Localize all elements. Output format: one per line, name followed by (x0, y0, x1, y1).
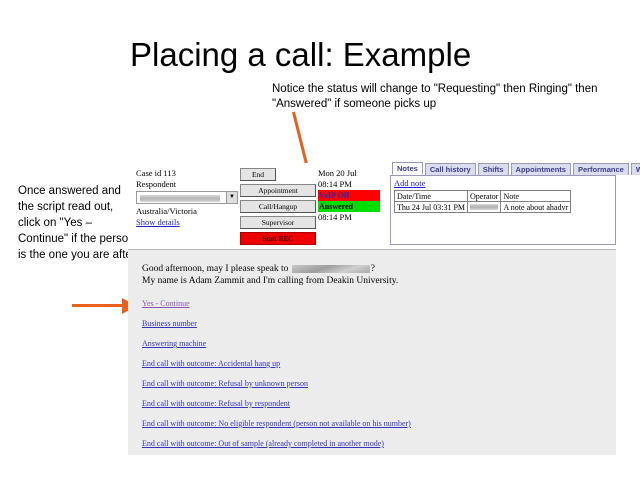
start-rec-button[interactable]: Start REC (240, 232, 316, 245)
cell-datetime: Thu 24 Jul 03:31 PM (395, 202, 468, 213)
call-hangup-button[interactable]: Call/Hangup (240, 200, 316, 213)
timezone-label: Australia/Victoria (136, 206, 246, 217)
tab-call-history[interactable]: Call history (425, 163, 476, 175)
call-status-badge: Answered (318, 201, 380, 212)
script-greeting-prefix: Good afternoon, may I please speak to (142, 264, 291, 274)
chevron-down-icon[interactable]: ▼ (226, 192, 237, 203)
call-controls: End Appointment Call/Hangup Supervisor S… (240, 168, 316, 248)
arrow-to-yes-continue-icon (72, 304, 124, 307)
script-greeting-suffix: ? (371, 264, 375, 274)
cell-operator (468, 202, 501, 213)
add-note-link[interactable]: Add note (394, 178, 425, 188)
voip-status-badge: VoIP Off (318, 190, 380, 201)
status-time-bottom: 08:14 PM (318, 212, 380, 223)
tab-work-history[interactable]: Work history (631, 163, 640, 175)
status-date: Mon 20 Jul (318, 168, 380, 179)
tab-notes[interactable]: Notes (392, 162, 423, 175)
script-region: Good afternoon, may I please speak to ? … (128, 250, 616, 455)
column-datetime: Date/Time (395, 191, 468, 202)
link-out-of-sample[interactable]: End call with outcome: Out of sample (al… (142, 439, 616, 448)
table-row[interactable]: Thu 24 Jul 03:31 PM A note about ahadvr (395, 202, 571, 213)
end-button[interactable]: End (240, 168, 276, 181)
supervisor-button[interactable]: Supervisor (240, 216, 316, 229)
script-line-1: Good afternoon, may I please speak to ? (142, 263, 616, 275)
page-title: Placing a call: Example (130, 36, 471, 74)
respondent-select[interactable]: ▼ (136, 191, 238, 204)
script-line-2: My name is Adam Zammit and I'm calling f… (142, 275, 616, 287)
appointment-button[interactable]: Appointment (240, 184, 316, 197)
show-details-link[interactable]: Show details (136, 217, 180, 228)
tabs-pane: Notes Call history Shifts Appointments P… (390, 163, 616, 249)
column-operator: Operator (468, 191, 501, 202)
callout-status-annotation: Notice the status will change to "Reques… (272, 82, 602, 112)
tab-performance[interactable]: Performance (573, 163, 629, 175)
notes-panel: Add note Date/Time Operator Note Thu 24 … (390, 175, 616, 245)
notes-table: Date/Time Operator Note Thu 24 Jul 03:31… (394, 190, 571, 213)
status-panel: Mon 20 Jul 08:14 PM VoIP Off Answered 08… (318, 168, 380, 223)
app-screenshot: Case id 113 Respondent ▼ Australia/Victo… (128, 163, 616, 455)
column-note: Note (501, 191, 571, 202)
operator-redacted-value (470, 204, 498, 210)
respondent-name-redacted (292, 265, 370, 273)
link-business-number[interactable]: Business number (142, 319, 616, 328)
link-accidental-hang-up[interactable]: End call with outcome: Accidental hang u… (142, 359, 616, 368)
case-info-panel: Case id 113 Respondent ▼ Australia/Victo… (136, 168, 246, 228)
cell-note: A note about ahadvr (501, 202, 571, 213)
link-no-eligible-respondent[interactable]: End call with outcome: No eligible respo… (142, 419, 616, 428)
case-id-label: Case id 113 (136, 168, 246, 179)
link-yes-continue[interactable]: Yes - Continue (142, 299, 616, 308)
app-top-bar: Case id 113 Respondent ▼ Australia/Victo… (128, 163, 616, 250)
tab-shifts[interactable]: Shifts (478, 163, 509, 175)
respondent-redacted-value (140, 195, 220, 202)
outcome-links-list: Yes - Continue Business number Answering… (142, 299, 616, 448)
tab-bar: Notes Call history Shifts Appointments P… (390, 163, 616, 175)
link-refusal-unknown-person[interactable]: End call with outcome: Refusal by unknow… (142, 379, 616, 388)
link-answering-machine[interactable]: Answering machine (142, 339, 616, 348)
tab-appointments[interactable]: Appointments (511, 163, 571, 175)
callout-yes-continue-annotation: Once answered and the script read out, c… (18, 183, 136, 263)
status-time-top: 08:14 PM (318, 179, 380, 190)
link-refusal-respondent[interactable]: End call with outcome: Refusal by respon… (142, 399, 616, 408)
table-header-row: Date/Time Operator Note (395, 191, 571, 202)
respondent-label: Respondent (136, 179, 246, 190)
